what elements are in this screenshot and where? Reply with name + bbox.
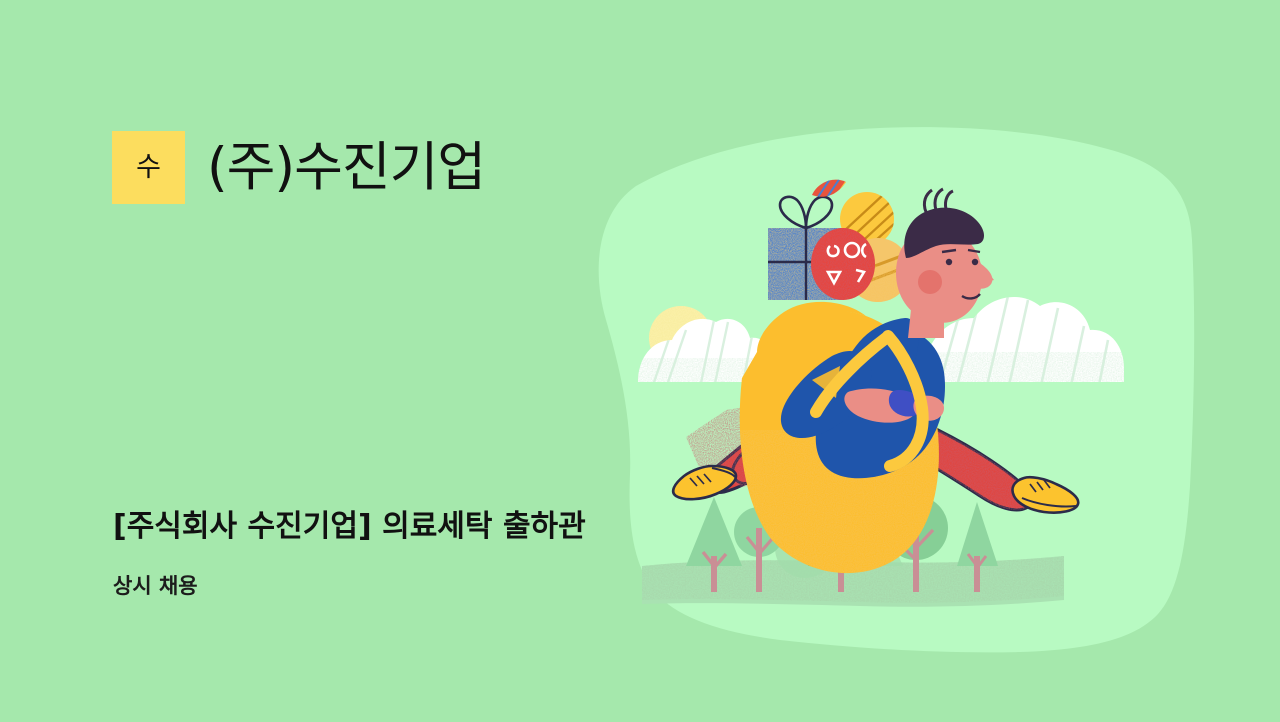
sack-neck bbox=[757, 302, 866, 352]
job-posting-card: 수 (주)수진기업 [주식회사 수진기업] 의료세탁 출하관 상시 채용 bbox=[0, 0, 1280, 722]
company-logo-character: 수 bbox=[136, 154, 161, 181]
sun-shape bbox=[645, 302, 719, 376]
job-posting-title: [주식회사 수진기업] 의료세탁 출하관 bbox=[113, 508, 586, 546]
striped-ball bbox=[840, 192, 894, 249]
runner-cuff bbox=[889, 390, 924, 417]
runner-back-shoe bbox=[673, 466, 736, 499]
runner-figure bbox=[673, 176, 1078, 590]
confetti-wedge bbox=[812, 176, 846, 202]
gift-box bbox=[766, 197, 846, 302]
runner-front-leg bbox=[826, 392, 1040, 516]
runner-head bbox=[896, 189, 994, 323]
job-posting-status: 상시 채용 bbox=[113, 573, 198, 599]
striped-ball-back bbox=[845, 238, 915, 306]
runner-neck bbox=[908, 300, 944, 338]
patterned-ball bbox=[810, 228, 878, 304]
background-blob bbox=[599, 127, 1195, 652]
ground-strip bbox=[640, 552, 1070, 607]
company-header: 수 (주)수진기업 bbox=[112, 131, 485, 204]
company-logo[interactable]: 수 bbox=[112, 131, 185, 204]
tree-cluster bbox=[686, 492, 998, 592]
sack-strap bbox=[888, 336, 923, 466]
illustration-artwork bbox=[0, 0, 1280, 722]
runner-arm bbox=[781, 351, 872, 438]
background-fill bbox=[0, 0, 1280, 722]
cloud-right bbox=[920, 296, 1130, 390]
gift-sack bbox=[735, 311, 950, 590]
runner-back-leg bbox=[680, 392, 850, 502]
company-name: (주)수진기업 bbox=[207, 141, 485, 194]
runner-forearm bbox=[844, 389, 916, 423]
runner-torso bbox=[816, 318, 945, 478]
cloud-left bbox=[636, 319, 778, 388]
runner-hand bbox=[913, 396, 944, 421]
runner-front-shoe bbox=[1012, 477, 1078, 512]
